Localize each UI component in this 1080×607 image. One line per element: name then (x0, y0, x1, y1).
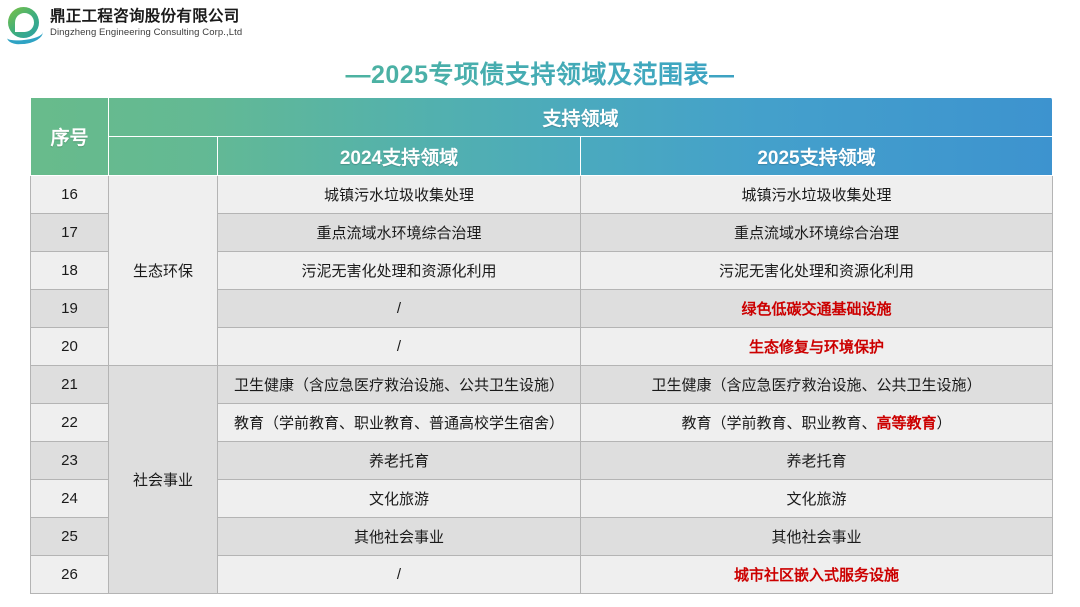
cell-2024-scope: 重点流域水环境综合治理 (218, 214, 581, 252)
cell-seq: 22 (31, 404, 109, 442)
table-row: 16生态环保城镇污水垃圾收集处理城镇污水垃圾收集处理 (31, 176, 1053, 214)
new-item-highlight: 绿色低碳交通基础设施 (741, 301, 891, 318)
brand-text: 鼎正工程咨询股份有限公司 Dingzheng Engineering Consu… (50, 9, 242, 37)
cell-seq: 23 (31, 442, 109, 480)
cell-2024-scope: / (218, 328, 581, 366)
new-item-highlight: 城市社区嵌入式服务设施 (734, 567, 899, 584)
brand-header: 鼎正工程咨询股份有限公司 Dingzheng Engineering Consu… (0, 0, 266, 46)
header-2024-scope: 2024支持领域 (218, 137, 581, 176)
cell-2025-scope: 城市社区嵌入式服务设施 (581, 556, 1053, 594)
cell-2025-scope: 重点流域水环境综合治理 (581, 214, 1053, 252)
cell-2025-scope: 教育（学前教育、职业教育、高等教育） (581, 404, 1053, 442)
cell-seq: 26 (31, 556, 109, 594)
cell-2025-scope: 绿色低碳交通基础设施 (581, 290, 1053, 328)
cell-seq: 19 (31, 290, 109, 328)
cell-2025-scope: 养老托育 (581, 442, 1053, 480)
cell-2024-scope: 卫生健康（含应急医疗救治设施、公共卫生设施） (218, 366, 581, 404)
cell-2024-scope: 文化旅游 (218, 480, 581, 518)
new-item-highlight: 高等教育 (876, 415, 936, 432)
cell-2025-scope: 城镇污水垃圾收集处理 (581, 176, 1053, 214)
cell-category: 生态环保 (109, 176, 218, 366)
cell-seq: 24 (31, 480, 109, 518)
header-2025-scope: 2025支持领域 (581, 137, 1053, 176)
cell-2024-scope: / (218, 556, 581, 594)
cell-2024-scope: 城镇污水垃圾收集处理 (218, 176, 581, 214)
header-seq: 序号 (31, 98, 109, 176)
cell-category: 社会事业 (109, 366, 218, 594)
cell-seq: 17 (31, 214, 109, 252)
support-scope-table: 序号 支持领域 2024支持领域 2025支持领域 16生态环保城镇污水垃圾收集… (30, 97, 1052, 594)
cell-2024-scope: 其他社会事业 (218, 518, 581, 556)
cell-2024-scope: 教育（学前教育、职业教育、普通高校学生宿舍） (218, 404, 581, 442)
company-name-cn: 鼎正工程咨询股份有限公司 (50, 9, 242, 25)
table-row: 21社会事业卫生健康（含应急医疗救治设施、公共卫生设施）卫生健康（含应急医疗救治… (31, 366, 1053, 404)
cell-2025-scope: 卫生健康（含应急医疗救治设施、公共卫生设施） (581, 366, 1053, 404)
cell-2025-scope: 文化旅游 (581, 480, 1053, 518)
cell-seq: 18 (31, 252, 109, 290)
header-support-scope: 支持领域 (109, 98, 1053, 137)
cell-2024-scope: 养老托育 (218, 442, 581, 480)
dingzheng-logo-icon (6, 4, 44, 42)
header-category-blank (109, 137, 218, 176)
cell-2024-scope: / (218, 290, 581, 328)
page-title: —2025专项债支持领域及范围表— (0, 55, 1080, 91)
table-body: 16生态环保城镇污水垃圾收集处理城镇污水垃圾收集处理17重点流域水环境综合治理重… (31, 176, 1053, 594)
cell-seq: 20 (31, 328, 109, 366)
cell-2025-scope: 其他社会事业 (581, 518, 1053, 556)
table-head: 序号 支持领域 2024支持领域 2025支持领域 (31, 98, 1053, 176)
company-name-en: Dingzheng Engineering Consulting Corp.,L… (50, 28, 242, 38)
cell-seq: 16 (31, 176, 109, 214)
new-item-highlight: 生态修复与环境保护 (749, 339, 884, 356)
cell-2025-scope: 生态修复与环境保护 (581, 328, 1053, 366)
cell-2025-scope: 污泥无害化处理和资源化利用 (581, 252, 1053, 290)
cell-2024-scope: 污泥无害化处理和资源化利用 (218, 252, 581, 290)
table-head-row-2: 2024支持领域 2025支持领域 (31, 137, 1053, 176)
cell-seq: 21 (31, 366, 109, 404)
cell-seq: 25 (31, 518, 109, 556)
table-head-row-1: 序号 支持领域 (31, 98, 1053, 137)
